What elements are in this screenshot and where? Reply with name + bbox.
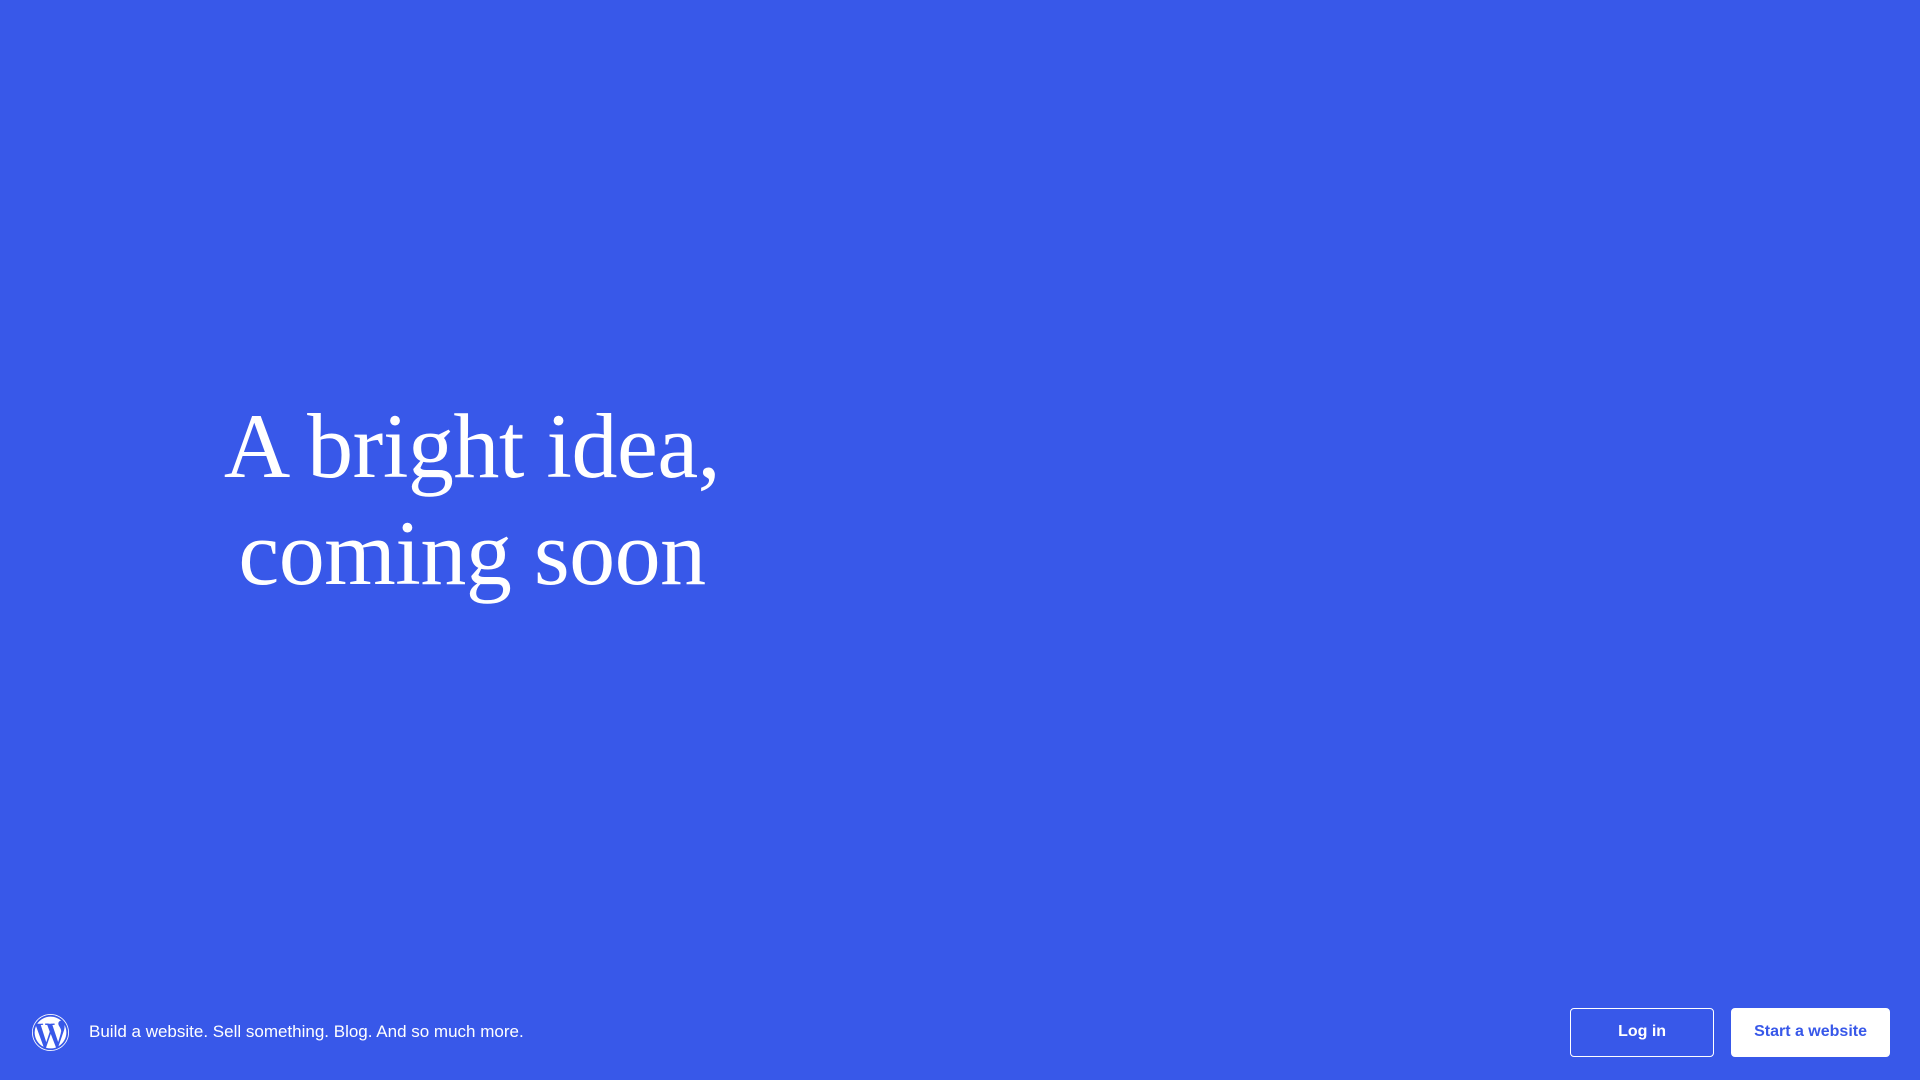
footer-brand: Build a website. Sell something. Blog. A… <box>32 1014 1570 1051</box>
log-in-button[interactable]: Log in <box>1570 1008 1714 1057</box>
wordpress-logo-icon <box>32 1014 69 1051</box>
page-title: A bright idea, coming soon <box>224 393 720 606</box>
start-a-website-button[interactable]: Start a website <box>1731 1008 1890 1057</box>
footer-tagline: Build a website. Sell something. Blog. A… <box>89 1021 524 1043</box>
hero-section: A bright idea, coming soon <box>0 0 944 1080</box>
footer-actions: Log in Start a website <box>1570 1008 1890 1057</box>
coming-soon-page: A bright idea, coming soon Build a websi… <box>0 0 1920 1080</box>
footer-bar: Build a website. Sell something. Blog. A… <box>0 984 1920 1080</box>
